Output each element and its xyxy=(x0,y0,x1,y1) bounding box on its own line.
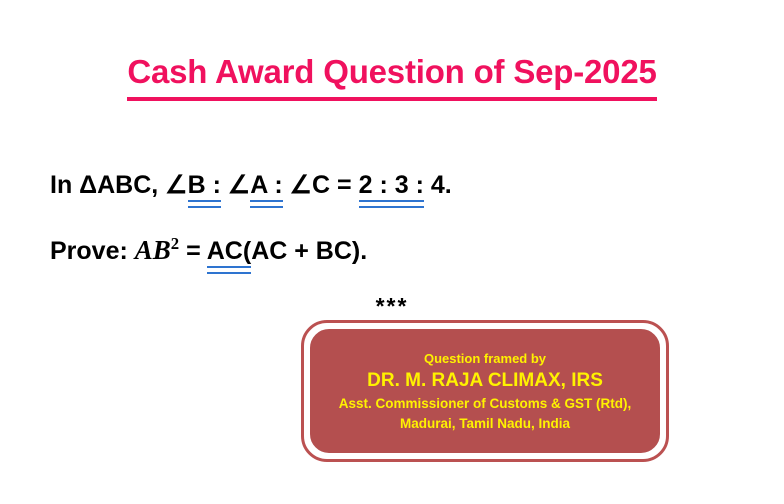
prove-statement-line: Prove: AB2 = AC(AC + BC). xyxy=(50,235,367,266)
credit-line-location: Madurai, Tamil Nadu, India xyxy=(400,414,570,434)
given-statement-line: In ΔABC, ∠B : ∠A : ∠C = 2 : 3 : 4. xyxy=(50,170,452,200)
given-mid-a: ∠ xyxy=(221,171,250,199)
page-title-row: Cash Award Question of Sep-2025 xyxy=(0,52,784,101)
prove-label: Prove: xyxy=(50,237,135,265)
credit-line-framed-by: Question framed by xyxy=(424,349,546,368)
credit-line-designation: Asst. Commissioner of Customs & GST (Rtd… xyxy=(339,394,632,414)
page-title: Cash Award Question of Sep-2025 xyxy=(127,52,656,101)
given-ratio-3-marked: 3 : xyxy=(388,171,424,202)
prove-expr-base: AB xyxy=(135,235,171,265)
asterisk-separator: *** xyxy=(0,293,784,320)
credit-box-inner: Question framed by DR. M. RAJA CLIMAX, I… xyxy=(308,327,662,455)
given-ratio-4: 4. xyxy=(424,171,452,199)
credit-line-author-name: DR. M. RAJA CLIMAX, IRS xyxy=(367,368,603,394)
prove-tail: AC + BC). xyxy=(251,237,367,265)
given-angle-a-marked: A : xyxy=(250,171,282,202)
prove-expr-exponent: 2 xyxy=(171,234,179,253)
document-page: Cash Award Question of Sep-2025 In ΔABC,… xyxy=(0,0,784,504)
given-ratio-2-marked: 2 : xyxy=(359,171,388,202)
prove-expression-ab-squared: AB2 xyxy=(135,235,179,265)
given-angle-b-marked: B : xyxy=(188,171,221,202)
given-prefix: In ΔABC, ∠ xyxy=(50,171,188,199)
prove-ac-marked: AC( xyxy=(207,237,251,268)
given-mid-c: ∠C = xyxy=(283,171,359,199)
prove-equals: = xyxy=(179,237,207,265)
credit-box: Question framed by DR. M. RAJA CLIMAX, I… xyxy=(301,320,669,462)
